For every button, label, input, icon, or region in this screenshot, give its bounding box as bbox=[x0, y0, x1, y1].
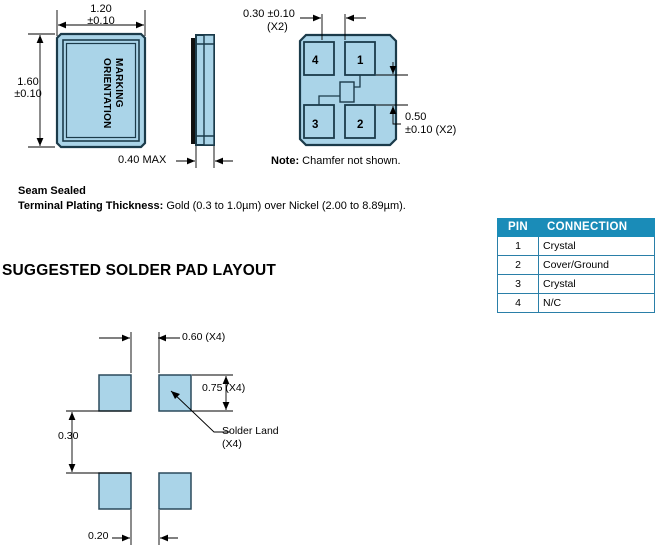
chamfer-note: Note: Chamfer not shown. bbox=[271, 155, 401, 167]
solder-land-top-left bbox=[99, 375, 131, 411]
pad-width-dimension-label: 0.30 ±0.10 (X2) bbox=[243, 8, 295, 34]
bottom-view-group: 4 1 3 2 bbox=[300, 35, 396, 145]
plating-note-value: Gold (0.3 to 1.0µm) over Nickel (2.00 to… bbox=[166, 200, 406, 212]
pin-table-body: 1 Crystal 2 Cover/Ground 3 Crystal 4 N/C bbox=[498, 237, 655, 313]
pad-height-dimension-label: 0.50 ±0.10 (X2) bbox=[405, 111, 456, 137]
pad-number-2: 2 bbox=[357, 119, 363, 131]
pad-height-tolerance: ±0.10 (X2) bbox=[405, 124, 456, 137]
thickness-dimension-label: 0.40 MAX bbox=[118, 154, 166, 166]
plating-note: Terminal Plating Thickness: Gold (0.3 to… bbox=[18, 199, 406, 214]
width-dimension-label: 1.20 ±0.10 bbox=[75, 3, 127, 27]
solder-gap-x-dimension bbox=[112, 510, 178, 545]
pin-table-header-pin: PIN bbox=[498, 219, 539, 237]
height-dimension-label: 1.60 ±0.10 bbox=[5, 76, 51, 100]
side-view-lid bbox=[204, 35, 214, 145]
solder-land-callout-line1: Solder Land bbox=[222, 425, 279, 438]
solder-land-callout-line2: (X4) bbox=[222, 438, 279, 451]
bottom-pad-4 bbox=[304, 42, 334, 75]
pin-cell-number: 4 bbox=[498, 294, 539, 313]
marking-line-1: MARKING bbox=[113, 58, 124, 108]
pin-table-header-connection: CONNECTION bbox=[539, 219, 655, 237]
pin-table-header-row: PIN CONNECTION bbox=[498, 219, 655, 237]
pad-width-value: 0.30 ±0.10 bbox=[243, 8, 295, 21]
solder-pitch-label: 0.60 (X4) bbox=[182, 331, 225, 343]
height-dim-value: 1.60 bbox=[5, 76, 51, 88]
marking-orientation-block: MARKING ORIENTATION bbox=[78, 58, 140, 126]
chamfer-note-label: Note: bbox=[271, 155, 299, 167]
pad-width-qty: (X2) bbox=[267, 21, 295, 34]
height-dim-tolerance: ±0.10 bbox=[5, 88, 51, 100]
pin-cell-connection: N/C bbox=[539, 294, 655, 313]
solder-pad-layout-group bbox=[66, 332, 233, 545]
table-row: 3 Crystal bbox=[498, 275, 655, 294]
thickness-dimension bbox=[176, 146, 233, 168]
width-dim-value: 1.20 bbox=[75, 3, 127, 15]
table-row: 1 Crystal bbox=[498, 237, 655, 256]
bottom-pad-3 bbox=[304, 105, 334, 138]
solder-pad-section-title: SUGGESTED SOLDER PAD LAYOUT bbox=[2, 262, 276, 280]
solder-gap-y-dimension bbox=[66, 411, 131, 473]
pin-cell-number: 2 bbox=[498, 256, 539, 275]
solder-land-bottom-left bbox=[99, 473, 131, 509]
solder-gap-y-label: 0.30 bbox=[58, 430, 78, 442]
pin-cell-number: 1 bbox=[498, 237, 539, 256]
pin-cell-connection: Crystal bbox=[539, 275, 655, 294]
plating-note-label: Terminal Plating Thickness: bbox=[18, 200, 163, 212]
pad-number-1: 1 bbox=[357, 55, 364, 67]
pad-height-value: 0.50 bbox=[405, 111, 456, 124]
seam-sealed-note: Seam Sealed bbox=[18, 184, 406, 199]
solder-pad-height-label: 0.75 (X4) bbox=[202, 382, 245, 394]
center-pad bbox=[340, 82, 354, 102]
pad-number-4: 4 bbox=[312, 55, 319, 67]
pin-cell-connection: Cover/Ground bbox=[539, 256, 655, 275]
width-dim-tolerance: ±0.10 bbox=[75, 15, 127, 27]
pin-connection-table: PIN CONNECTION 1 Crystal 2 Cover/Ground … bbox=[497, 218, 655, 313]
side-view-group bbox=[191, 35, 214, 145]
solder-land-callout: Solder Land (X4) bbox=[222, 425, 279, 451]
pad-number-3: 3 bbox=[312, 119, 318, 131]
notes-block: Seam Sealed Terminal Plating Thickness: … bbox=[18, 184, 406, 214]
pin-cell-connection: Crystal bbox=[539, 237, 655, 256]
table-row: 2 Cover/Ground bbox=[498, 256, 655, 275]
pin-cell-number: 3 bbox=[498, 275, 539, 294]
marking-line-2: ORIENTATION bbox=[101, 58, 112, 129]
datasheet-page: 4 1 3 2 bbox=[0, 0, 659, 552]
solder-land-bottom-right bbox=[159, 473, 191, 509]
solder-pitch-dimension bbox=[99, 332, 180, 373]
table-row: 4 N/C bbox=[498, 294, 655, 313]
chamfer-note-text: Chamfer not shown. bbox=[302, 155, 400, 167]
solder-gap-x-label: 0.20 bbox=[88, 530, 108, 542]
